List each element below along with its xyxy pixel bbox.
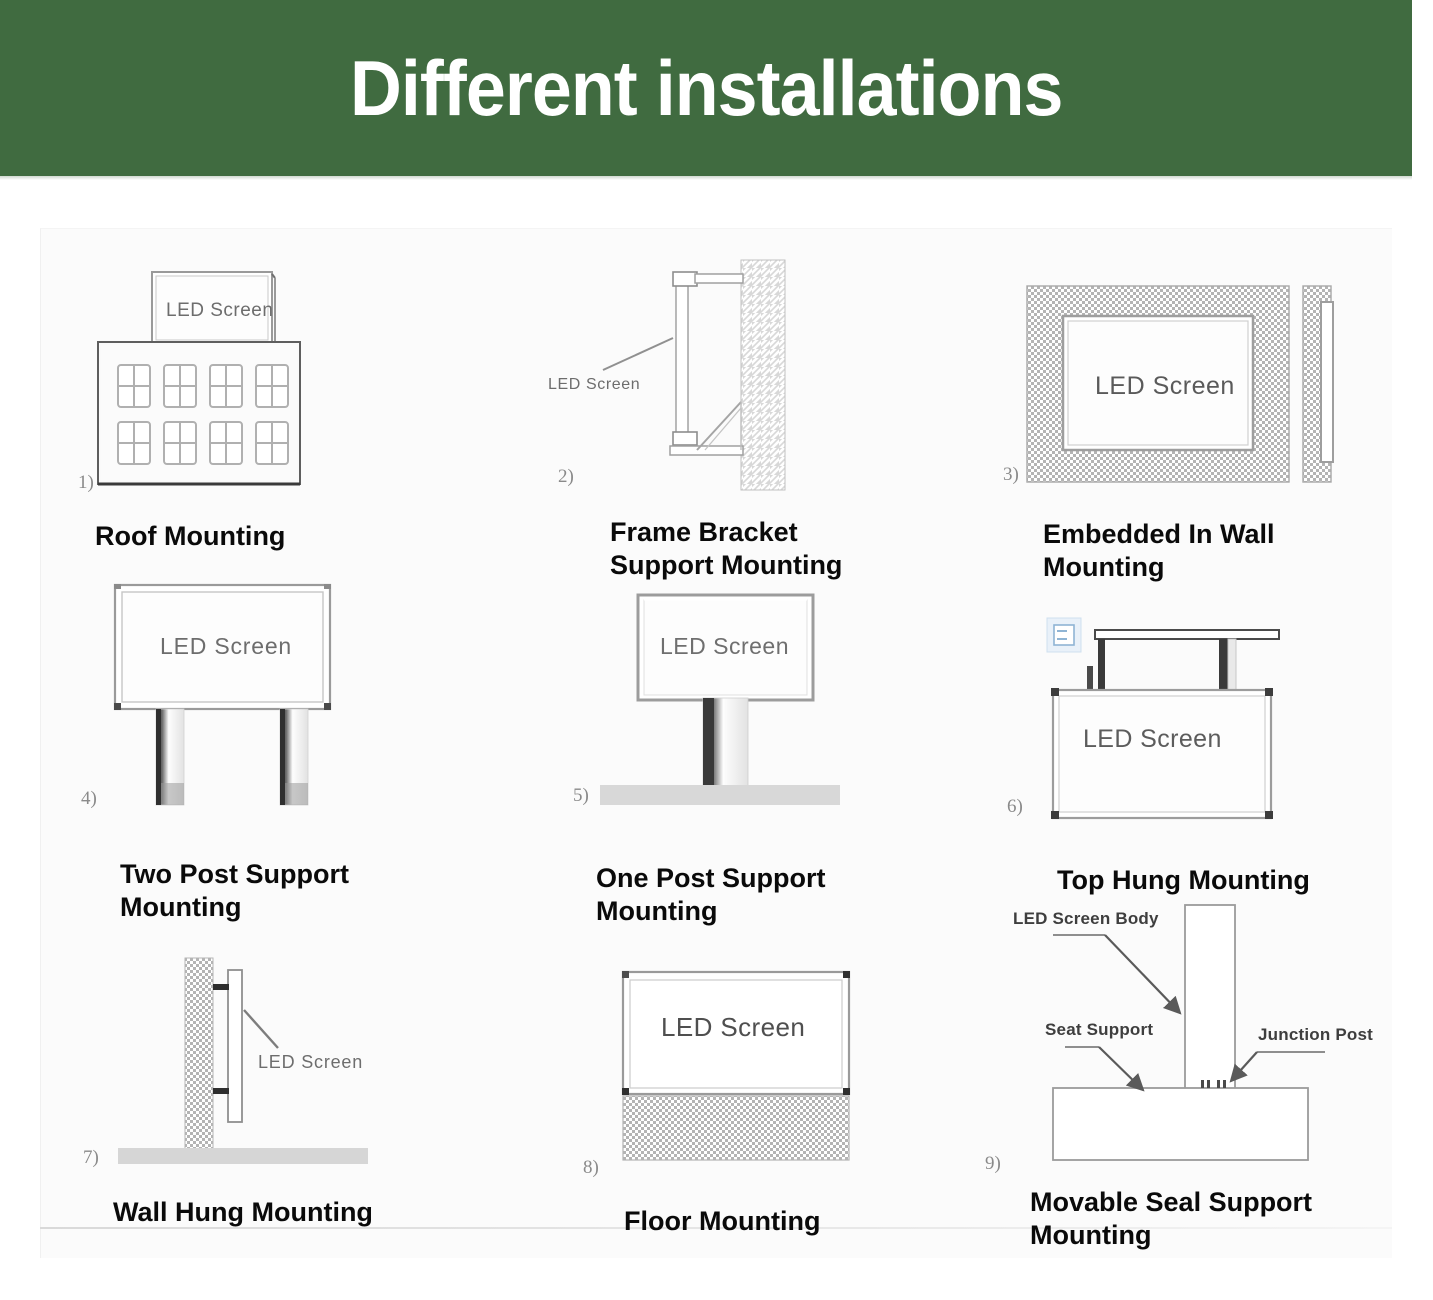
one-post-drawing (545, 585, 965, 825)
figure-index: 2) (558, 466, 574, 488)
figure-index: 5) (573, 785, 589, 807)
caption-one-post: One Post Support Mounting (596, 862, 826, 929)
caption-floor-mounting: Floor Mounting (624, 1205, 820, 1238)
caption-wall-hung: Wall Hung Mounting (113, 1196, 373, 1229)
led-screen-body-label: LED Screen Body (1013, 909, 1159, 929)
floor-mounting-drawing (560, 950, 980, 1180)
led-screen-label: LED Screen (166, 300, 273, 322)
led-screen-label: LED Screen (661, 1012, 805, 1043)
figure-index: 9) (985, 1153, 1001, 1175)
led-screen-label: LED Screen (548, 376, 640, 394)
caption-frame-bracket: Frame Bracket Support Mounting (610, 516, 842, 583)
caption-two-post: Two Post Support Mounting (120, 858, 349, 925)
seat-support-label: Seat Support (1045, 1020, 1153, 1040)
figure-movable-seal: LED Screen Body Seat Support Junction Po… (995, 895, 1425, 1185)
figure-top-hung: LED Screen 6) (995, 600, 1415, 860)
led-screen-label: LED Screen (160, 633, 292, 660)
header-banner: Different installations (0, 0, 1412, 176)
led-screen-label: LED Screen (1083, 725, 1222, 754)
figure-index: 4) (81, 788, 97, 810)
led-screen-label: LED Screen (660, 633, 789, 660)
roof-mounting-drawing (70, 250, 490, 510)
caption-embedded-in-wall: Embedded In Wall Mounting (1043, 518, 1275, 585)
junction-post-label: Junction Post (1258, 1025, 1373, 1045)
broken-image-icon (1047, 618, 1081, 652)
caption-movable-seal: Movable Seal Support Mounting (1030, 1186, 1312, 1253)
led-screen-label: LED Screen (1095, 372, 1235, 401)
caption-roof-mounting: Roof Mounting (95, 520, 285, 553)
figure-frame-bracket: LED Screen 2) (545, 250, 965, 550)
top-hung-drawing (995, 600, 1415, 840)
figure-index: 8) (583, 1157, 599, 1179)
figure-floor-mounting: LED Screen 8) (560, 950, 980, 1210)
two-post-drawing (70, 575, 490, 825)
figure-embedded-in-wall: LED Screen 3) (995, 250, 1415, 550)
figure-index: 1) (78, 472, 94, 494)
caption-top-hung: Top Hung Mounting (1057, 864, 1310, 897)
figure-index: 7) (83, 1147, 99, 1169)
header-underline (0, 176, 1412, 180)
figure-roof-mounting: LED Screen 1) (70, 250, 490, 550)
slide-root: Different installations (0, 0, 1433, 1300)
figure-wall-hung: LED Screen 7) (70, 940, 490, 1200)
led-screen-label: LED Screen (258, 1052, 363, 1073)
figure-one-post: LED Screen 5) (545, 585, 965, 845)
page-title: Different installations (350, 49, 1062, 127)
figure-index: 6) (1007, 796, 1023, 818)
figure-two-post: LED Screen 4) (70, 575, 490, 835)
figure-index: 3) (1003, 464, 1019, 486)
